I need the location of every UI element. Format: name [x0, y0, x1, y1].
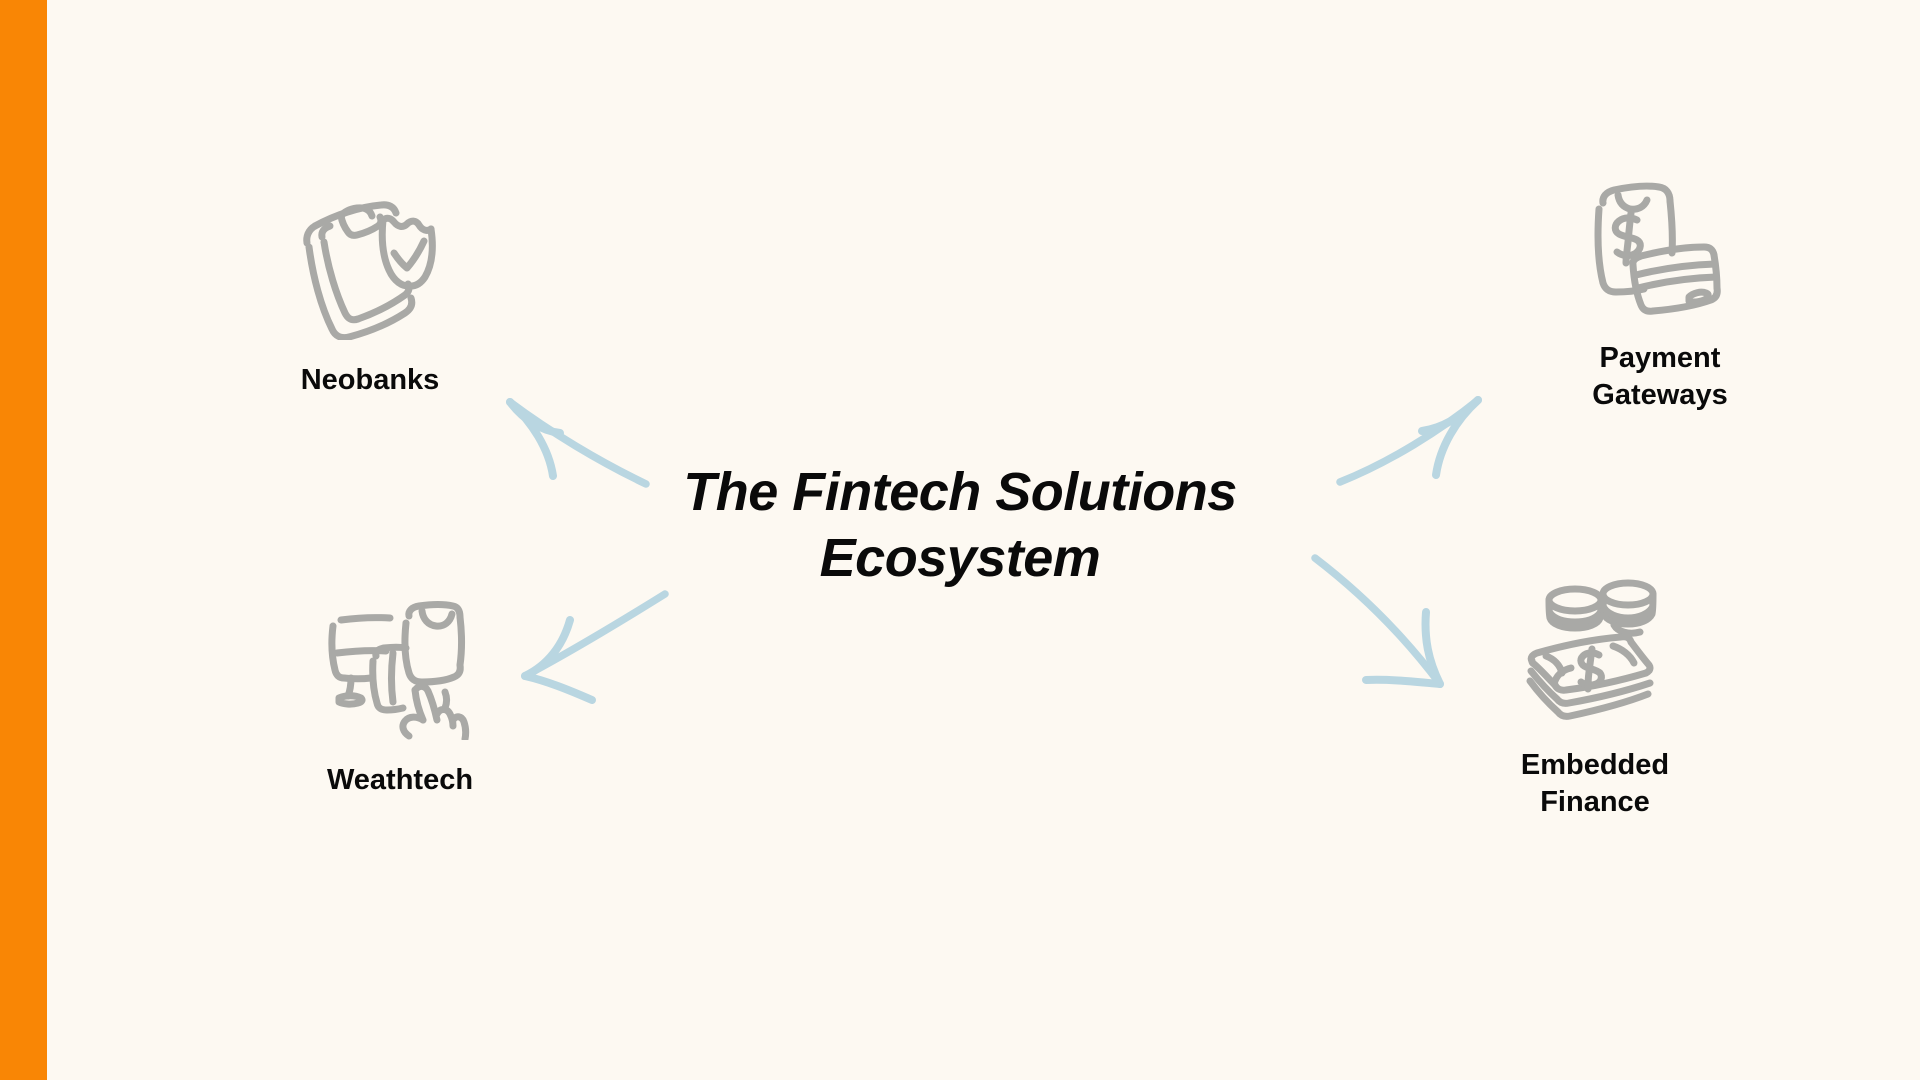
page-title-line-2: Ecosystem	[610, 526, 1310, 592]
node-neobanks[interactable]: Neobanks	[240, 195, 500, 399]
page-title: The Fintech Solutions Ecosystem	[610, 460, 1310, 592]
devices-pointing-hand-icon	[323, 590, 478, 740]
arrow-to-embedded	[1315, 558, 1440, 684]
arrow-to-weathtech	[525, 594, 665, 700]
node-label-payment-gateways: Payment Gateways	[1530, 340, 1790, 414]
node-label-neobanks: Neobanks	[240, 362, 500, 399]
node-embedded-finance[interactable]: Embedded Finance	[1465, 575, 1725, 821]
clipboard-shield-check-icon	[295, 195, 445, 340]
page-title-line-1: The Fintech Solutions	[610, 460, 1310, 526]
arrow-to-payment	[1340, 400, 1478, 482]
node-label-embedded-finance: Embedded Finance	[1465, 747, 1725, 821]
node-label-weathtech: Weathtech	[270, 762, 530, 799]
slide-canvas: The Fintech Solutions Ecosystem Neobanks	[0, 0, 1920, 1080]
phone-dollar-credit-card-icon	[1585, 175, 1735, 320]
left-accent-bar	[0, 0, 47, 1080]
node-payment-gateways[interactable]: Payment Gateways	[1530, 175, 1790, 414]
node-weathtech[interactable]: Weathtech	[270, 590, 530, 799]
cash-coins-icon	[1518, 575, 1673, 725]
